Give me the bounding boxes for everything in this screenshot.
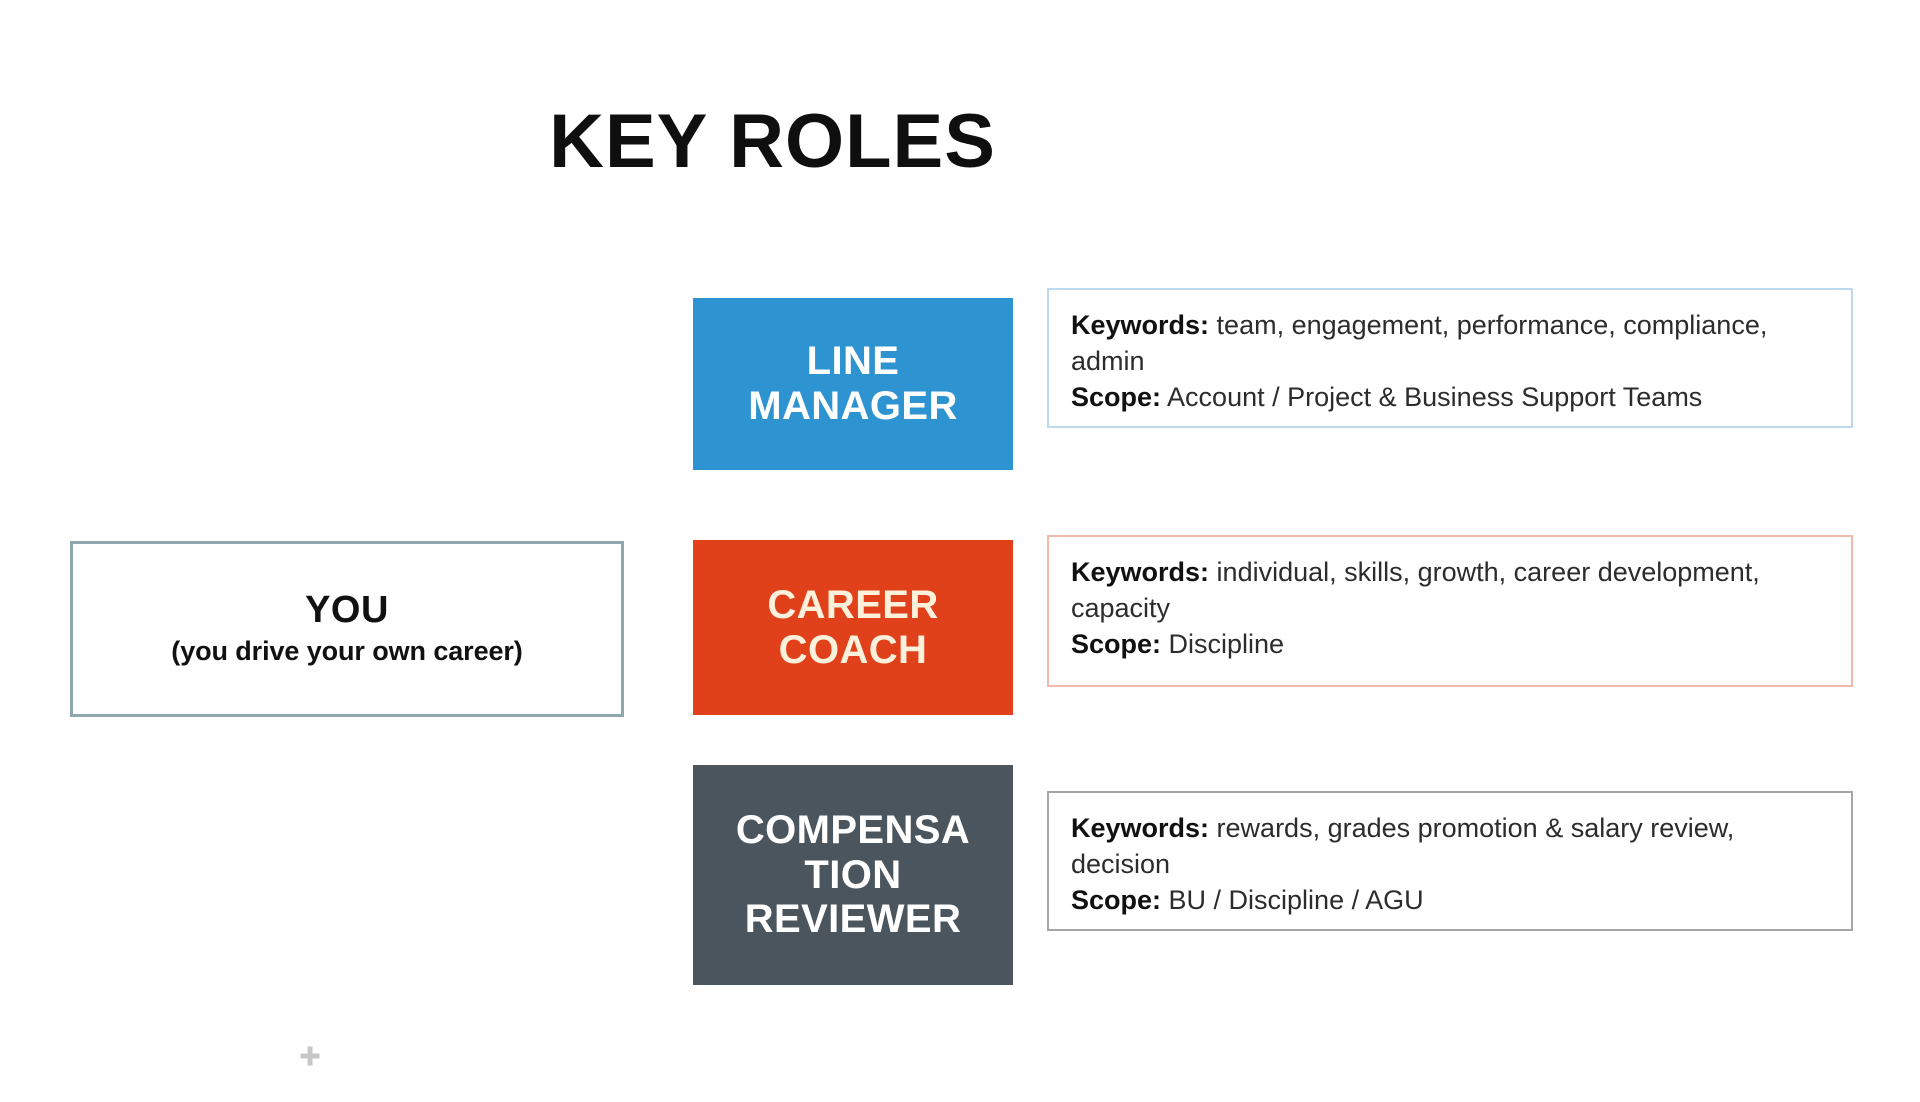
keywords-label: Keywords: xyxy=(1071,310,1209,340)
role-chip-career-coach[interactable]: CAREER COACH xyxy=(693,540,1013,715)
role-name-line-2: TION xyxy=(804,853,901,897)
scope-value: Account / Project & Business Support Tea… xyxy=(1161,382,1702,412)
role-name-line-1: COMPENSA xyxy=(736,808,970,852)
role-chip-label: CAREER COACH xyxy=(767,583,938,673)
role-name-line-1: LINE xyxy=(807,339,900,383)
scope-line: Scope: Account / Project & Business Supp… xyxy=(1071,380,1831,416)
keywords-line: Keywords: individual, skills, growth, ca… xyxy=(1071,555,1831,627)
scope-value: BU / Discipline / AGU xyxy=(1161,885,1424,915)
scope-line: Scope: BU / Discipline / AGU xyxy=(1071,883,1831,919)
slide-canvas: KEY ROLES YOU (you drive your own career… xyxy=(0,0,1920,1102)
keywords-line: Keywords: rewards, grades promotion & sa… xyxy=(1071,811,1831,883)
scope-label: Scope: xyxy=(1071,885,1161,915)
role-detail-panel-line-manager[interactable]: Keywords: team, engagement, performance,… xyxy=(1047,288,1853,428)
you-box-title: YOU xyxy=(305,591,389,631)
role-name-line-1: CAREER xyxy=(767,583,938,627)
role-chip-label: LINE MANAGER xyxy=(748,339,957,429)
scope-label: Scope: xyxy=(1071,629,1161,659)
you-box-subtitle: (you drive your own career) xyxy=(171,637,522,667)
keywords-label: Keywords: xyxy=(1071,557,1209,587)
scope-line: Scope: Discipline xyxy=(1071,627,1831,663)
scope-value: Discipline xyxy=(1161,629,1284,659)
role-name-line-3: REVIEWER xyxy=(745,897,962,941)
role-detail-panel-career-coach[interactable]: Keywords: individual, skills, growth, ca… xyxy=(1047,535,1853,687)
role-name-line-2: COACH xyxy=(779,628,928,672)
scope-label: Scope: xyxy=(1071,382,1161,412)
page-title: KEY ROLES xyxy=(0,104,1545,180)
role-chip-label: COMPENSA TION REVIEWER xyxy=(736,808,970,942)
plus-cross-icon xyxy=(298,1044,322,1068)
keywords-label: Keywords: xyxy=(1071,813,1209,843)
role-name-line-2: MANAGER xyxy=(748,384,957,428)
keywords-line: Keywords: team, engagement, performance,… xyxy=(1071,308,1831,380)
role-chip-compensation-reviewer[interactable]: COMPENSA TION REVIEWER xyxy=(693,765,1013,985)
you-box[interactable]: YOU (you drive your own career) xyxy=(70,541,624,717)
role-detail-panel-compensation-reviewer[interactable]: Keywords: rewards, grades promotion & sa… xyxy=(1047,791,1853,931)
role-chip-line-manager[interactable]: LINE MANAGER xyxy=(693,298,1013,470)
